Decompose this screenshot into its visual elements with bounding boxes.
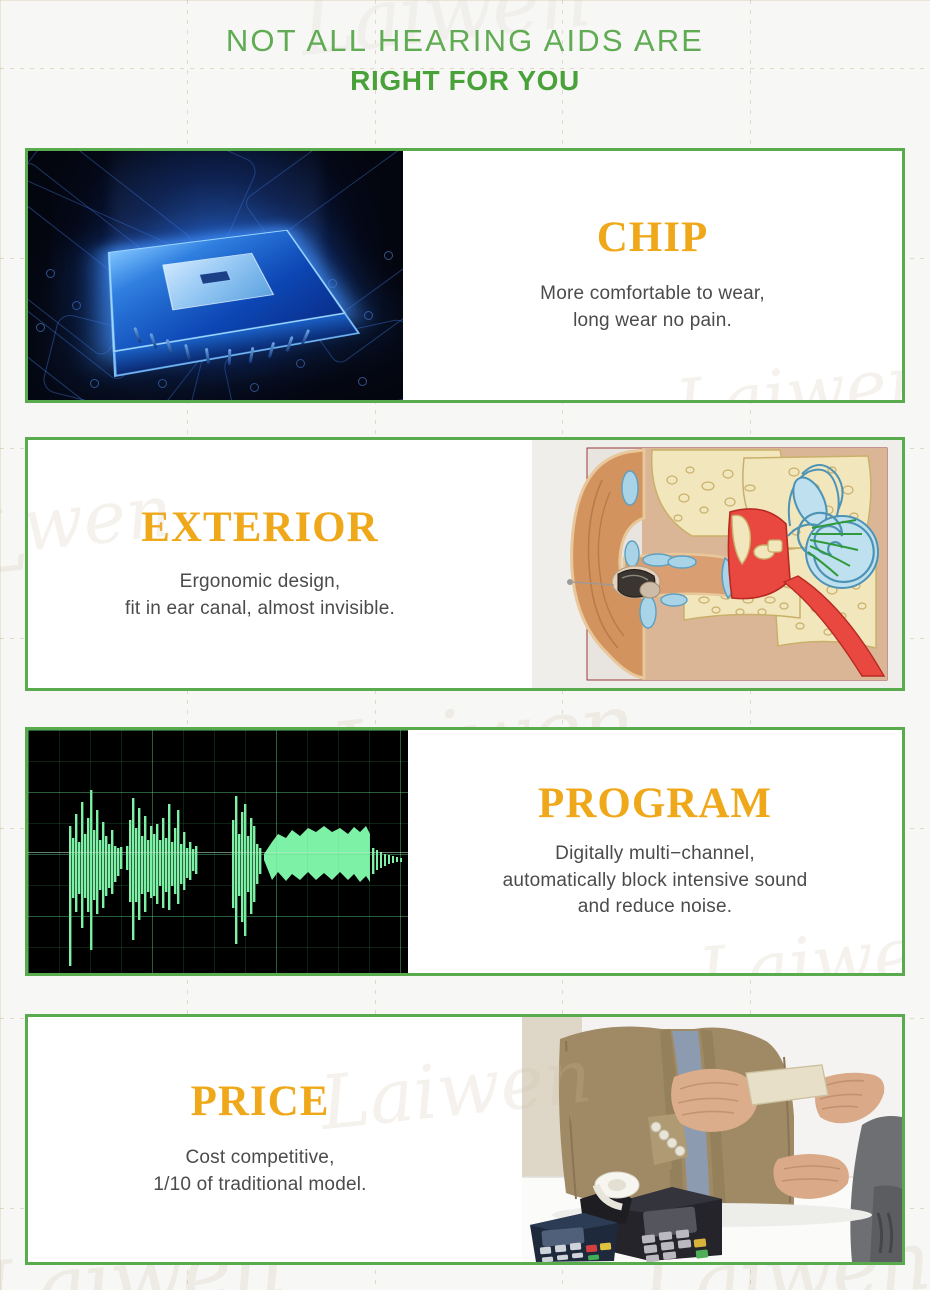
price-copy: Laiwen PRICE Cost competitive, 1/10 of t…	[28, 1017, 522, 1262]
exterior-description: Ergonomic design, fit in ear canal, almo…	[125, 569, 395, 623]
program-description-line: Digitally multi−channel,	[503, 841, 808, 868]
chip-title: CHIP	[597, 216, 709, 259]
infographic-page: Laiwen Laiwen Laiwen Laiwen Laiwen NOT A…	[0, 0, 930, 1290]
chip-description-line: long wear no pain.	[540, 308, 765, 335]
exterior-title: EXTERIOR	[141, 506, 378, 549]
feature-card-program: Laiwen PROGRAM Digitally multi−channel, …	[25, 727, 905, 976]
exterior-description-line: fit in ear canal, almost invisible.	[125, 596, 395, 623]
chip-circuit-board-image	[28, 151, 403, 400]
price-description-line: 1/10 of traditional model.	[153, 1172, 366, 1199]
feature-card-chip: Laiwen CHIP More comfortable to wear, lo…	[25, 148, 905, 403]
price-title: PRICE	[191, 1080, 330, 1123]
program-description: Digitally multi−channel, automatically b…	[503, 841, 808, 922]
price-description: Cost competitive, 1/10 of traditional mo…	[153, 1145, 366, 1199]
chip-copy: Laiwen CHIP More comfortable to wear, lo…	[403, 151, 902, 400]
price-description-line: Cost competitive,	[153, 1145, 366, 1172]
payment-scene-icon	[522, 1017, 902, 1262]
feature-card-exterior: Laiwen EXTERIOR Ergonomic design, fit in…	[25, 437, 905, 691]
page-title: NOT ALL HEARING AIDS ARE RIGHT FOR YOU	[0, 22, 930, 101]
program-description-line: automatically block intensive sound	[503, 868, 808, 895]
ear-anatomy-diagram-icon	[532, 440, 902, 688]
card-payment-image	[522, 1017, 902, 1262]
exterior-description-line: Ergonomic design,	[125, 569, 395, 596]
chip-description-line: More comfortable to wear,	[540, 281, 765, 308]
ear-anatomy-image	[532, 440, 902, 688]
audio-waveform-image	[28, 730, 408, 973]
exterior-copy: Laiwen EXTERIOR Ergonomic design, fit in…	[28, 440, 532, 688]
program-title: PROGRAM	[538, 782, 772, 825]
feature-card-price: Laiwen PRICE Cost competitive, 1/10 of t…	[25, 1014, 905, 1265]
page-title-line2: RIGHT FOR YOU	[0, 61, 930, 102]
chip-description: More comfortable to wear, long wear no p…	[540, 281, 765, 335]
program-description-line: and reduce noise.	[503, 894, 808, 921]
program-copy: Laiwen PROGRAM Digitally multi−channel, …	[408, 730, 902, 973]
card-watermark: Laiwen	[671, 339, 905, 403]
page-title-line1: NOT ALL HEARING AIDS ARE	[0, 22, 930, 61]
